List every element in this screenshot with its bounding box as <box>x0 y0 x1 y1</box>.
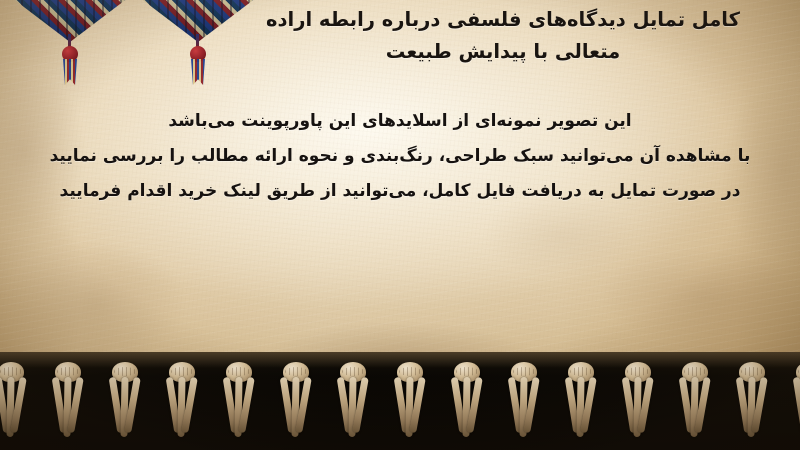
slide-canvas: کامل تمایل دیدگاه‌های فلسفی درباره رابطه… <box>0 0 800 450</box>
slide-text-layer: کامل تمایل دیدگاه‌های فلسفی درباره رابطه… <box>0 0 800 380</box>
body-line-2: با مشاهده آن می‌توانید سبک طراحی، رنگ‌بن… <box>24 139 776 174</box>
slide-body: این تصویر نمونه‌ای از اسلایدهای این پاور… <box>24 104 776 209</box>
body-line-1: این تصویر نمونه‌ای از اسلایدهای این پاور… <box>24 104 776 139</box>
fringe-thread <box>793 377 800 433</box>
body-line-3: در صورت تمایل به دریافت فایل کامل، می‌تو… <box>24 174 776 209</box>
slide-title: کامل تمایل دیدگاه‌های فلسفی درباره رابطه… <box>230 4 776 67</box>
